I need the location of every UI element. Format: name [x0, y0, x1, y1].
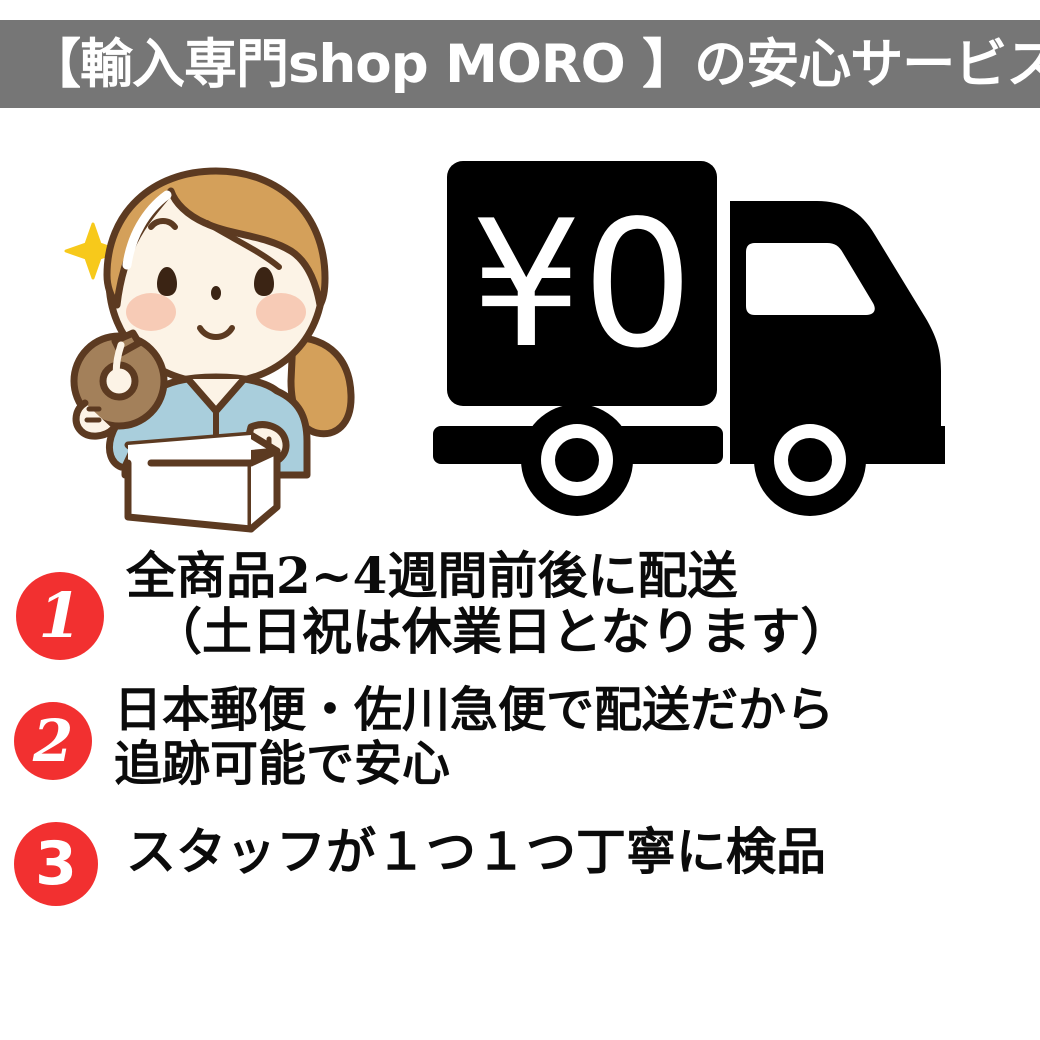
- truck-cargo-label: ¥0: [471, 184, 694, 387]
- free-shipping-truck-icon: ¥0: [425, 145, 985, 525]
- feature-2-line-1: 日本郵便・佐川急便で配送だから: [114, 684, 1040, 738]
- feature-text-1: 全商品2~4週間前後に配送 （土日祝は休業日となります）: [104, 548, 1040, 660]
- feature-1-line-1: 全商品2~4週間前後に配送: [126, 548, 1040, 604]
- feature-text-2: 日本郵便・佐川急便で配送だから 追跡可能で安心: [92, 684, 1040, 792]
- feature-item-1: 1 全商品2~4週間前後に配送 （土日祝は休業日となります）: [0, 548, 1040, 660]
- shipping-service-infographic: 【輸入専門shop MORO 】の安心サービス: [0, 0, 1040, 1040]
- feature-badge-1: 1: [16, 572, 104, 660]
- woman-packing-icon: [55, 145, 405, 535]
- feature-list: 1 全商品2~4週間前後に配送 （土日祝は休業日となります） 2 日本郵便・佐川…: [0, 548, 1040, 906]
- feature-3-line-1: スタッフが１つ１つ丁寧に検品: [126, 824, 1040, 880]
- feature-1-line-2: （土日祝は休業日となります）: [126, 604, 1040, 660]
- feature-badge-3: 3: [14, 822, 98, 906]
- feature-text-3: スタッフが１つ１つ丁寧に検品: [98, 812, 1040, 880]
- illustration-row: ¥0: [0, 130, 1040, 540]
- header-banner: 【輸入専門shop MORO 】の安心サービス: [0, 20, 1040, 108]
- feature-badge-2: 2: [14, 702, 92, 780]
- feature-item-3: 3 スタッフが１つ１つ丁寧に検品: [0, 812, 1040, 906]
- page-title: 【輸入専門shop MORO 】の安心サービス: [0, 38, 1040, 91]
- feature-2-line-2: 追跡可能で安心: [114, 738, 1040, 792]
- feature-item-2: 2 日本郵便・佐川急便で配送だから 追跡可能で安心: [0, 684, 1040, 792]
